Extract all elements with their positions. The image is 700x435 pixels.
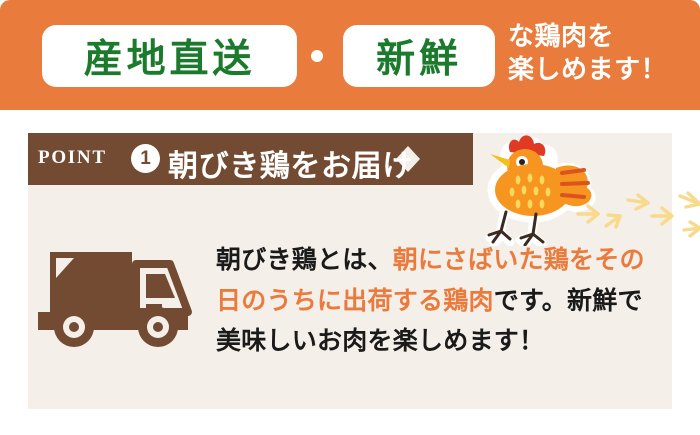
point-description: 朝びき鶏とは、朝にさばいた鶏をその日のうちに出荷する鶏肉です。新鮮で美味しいお肉… xyxy=(216,240,666,362)
badge-fresh: 新鮮 xyxy=(343,25,495,87)
bird-footprints-icon xyxy=(576,186,700,246)
header-banner: 産地直送 新鮮 な鶏肉を 楽しめます！ xyxy=(0,0,700,110)
ribbon-number-badge: 1 xyxy=(131,144,160,173)
header-tagline-line-1: な鶏肉を xyxy=(508,20,667,53)
header-tagline: な鶏肉を 楽しめます！ xyxy=(508,20,667,87)
ribbon-title: 朝びき鶏をお届け xyxy=(168,141,413,185)
badge-direct-from-farm-label: 産地直送 xyxy=(84,28,256,84)
ribbon-point-label: POINT xyxy=(38,147,107,169)
badge-direct-from-farm: 産地直送 xyxy=(42,25,297,87)
description-segment-0: 朝びき鶏とは、 xyxy=(216,246,393,274)
delivery-truck-icon xyxy=(36,234,206,349)
header-tagline-line-2: 楽しめます！ xyxy=(508,53,667,86)
badge-fresh-label: 新鮮 xyxy=(376,28,462,84)
separator-dot xyxy=(311,50,323,62)
